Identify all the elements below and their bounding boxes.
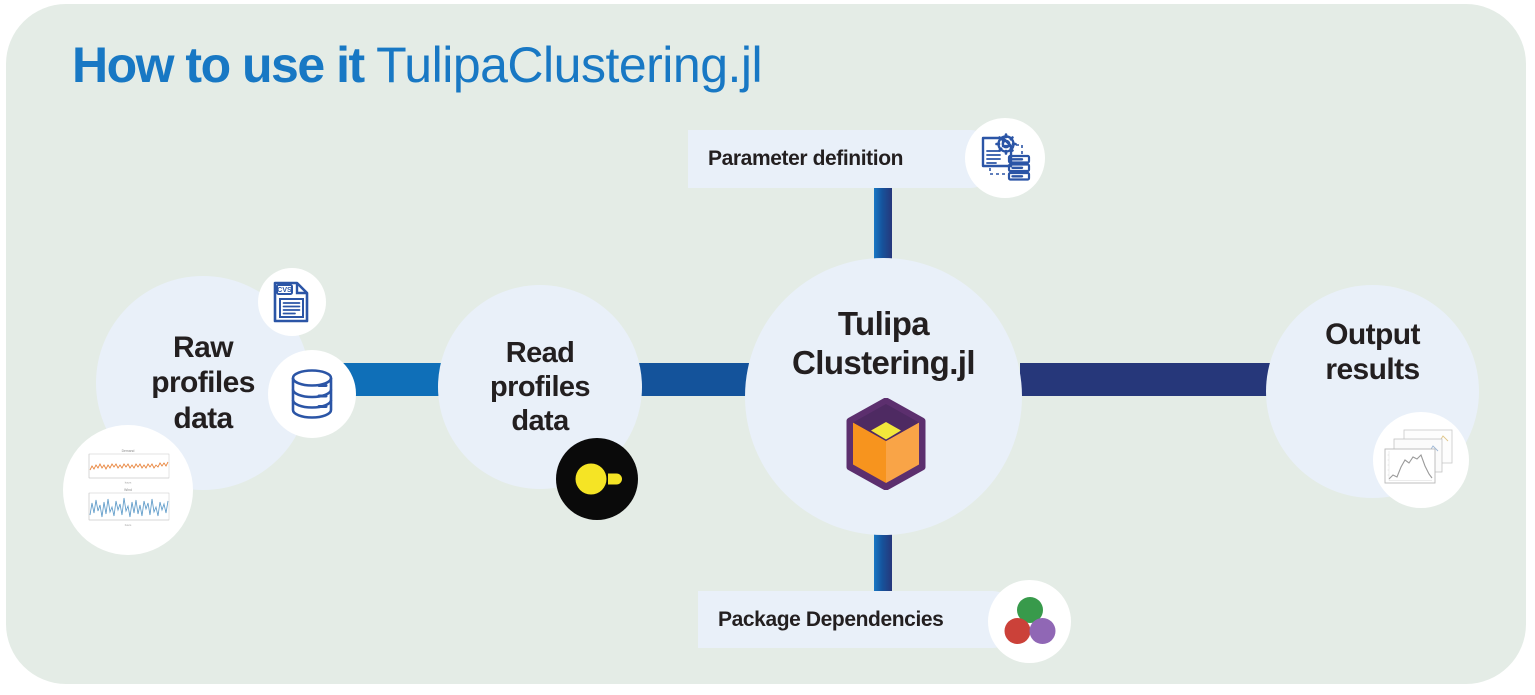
svg-text:Demand: Demand [122, 449, 135, 453]
connector-tulipa-to-output [1020, 363, 1280, 396]
side-box-label-package-dependencies: Package Dependencies [698, 608, 943, 632]
node-label-tulipa-clustering: Tulipa Clustering.jl [792, 305, 975, 383]
svg-text:hours: hours [125, 523, 132, 527]
side-box-parameter-definition[interactable]: Parameter definition [688, 130, 996, 188]
node-label-raw-profiles-data: Raw profiles data [151, 330, 255, 436]
csv-file-icon: CVS [267, 277, 317, 327]
julia-dots-icon-bubble [988, 580, 1071, 663]
page-title-bold: How to use it [72, 37, 364, 93]
julia-cube-icon-svg [843, 398, 929, 490]
result-charts-icon [1382, 425, 1460, 495]
database-icon [281, 363, 343, 425]
svg-text:Wind: Wind [124, 488, 132, 492]
svg-text:hours: hours [125, 481, 132, 485]
node-label-read-profiles-data: Read profiles data [490, 336, 590, 439]
profile-chart-icon-bubble: Demand hours Wind hours [63, 425, 193, 555]
connector-read-to-tulipa [637, 363, 762, 396]
result-charts-icon-bubble [1373, 412, 1469, 508]
svg-text:CVS: CVS [277, 287, 292, 294]
julia-cube-icon [843, 398, 929, 490]
duckdb-icon-svg [556, 438, 638, 520]
gear-document-icon-bubble [965, 118, 1045, 198]
csv-file-icon-bubble: CVS [258, 268, 326, 336]
duckdb-icon [556, 438, 638, 520]
julia-dots-icon [999, 591, 1061, 653]
page-title-regular: TulipaClustering.jl [376, 37, 762, 93]
gear-document-icon [975, 128, 1035, 188]
node-tulipa-clustering[interactable]: Tulipa Clustering.jl [745, 258, 1022, 535]
node-label-output-results: Output results [1325, 317, 1420, 388]
side-box-label-parameter-definition: Parameter definition [688, 147, 903, 171]
database-icon-bubble [268, 350, 356, 438]
diagram-canvas: How to use it TulipaClustering.jl Parame… [0, 0, 1535, 695]
page-title: How to use it TulipaClustering.jl [72, 32, 762, 98]
side-box-package-dependencies[interactable]: Package Dependencies [698, 591, 1018, 648]
profile-chart-icon: Demand hours Wind hours [75, 445, 181, 535]
